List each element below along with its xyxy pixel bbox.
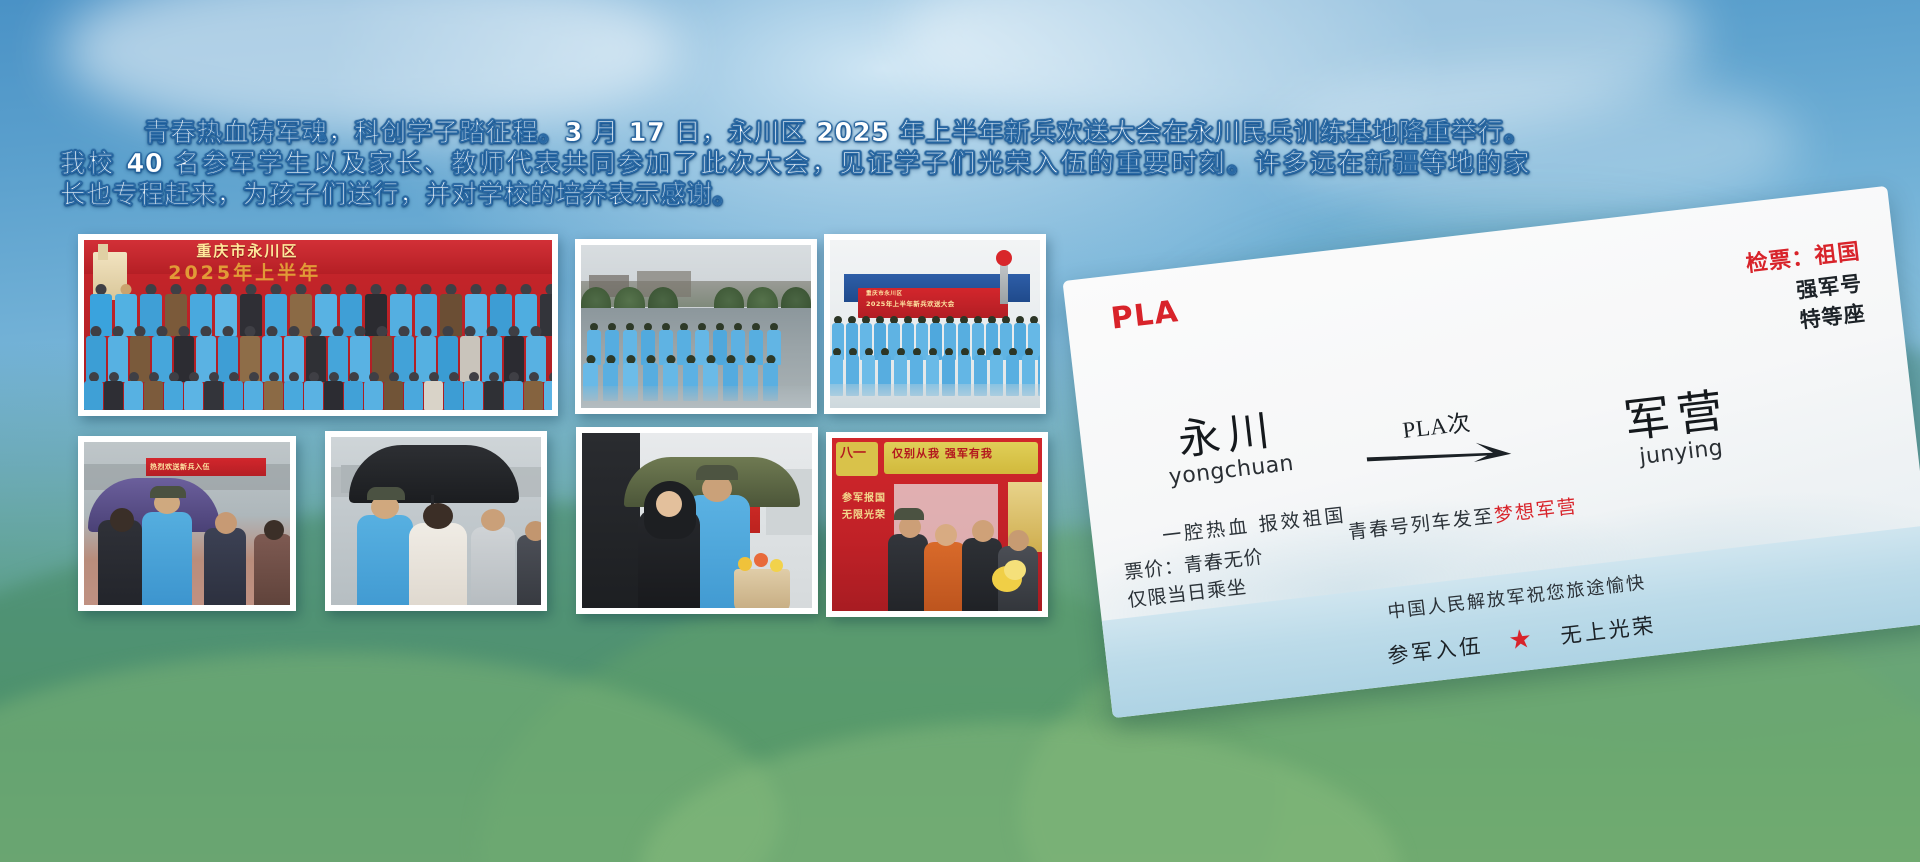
photo-image: 重庆市永川区 2025年上半年新兵欢送大会 bbox=[830, 240, 1040, 408]
photo-family-farewell-umbrella-black[interactable] bbox=[325, 431, 547, 611]
photo-image bbox=[581, 245, 811, 408]
seat-class-label: 特等座 bbox=[1798, 297, 1867, 334]
photo-recruits-formation-trees[interactable] bbox=[575, 239, 817, 414]
photo-image bbox=[331, 437, 541, 605]
ticket-surface: PLA 检票：祖国 强军号 特等座 永川 yongchuan PLA次 军营 j… bbox=[1062, 186, 1920, 718]
photo-recruits-formation-stage[interactable]: 重庆市永川区 2025年上半年新兵欢送大会 bbox=[824, 234, 1046, 414]
headline-paragraph: 青春热血铸军魂，科创学子踏征程。3 月 17 日，永川区 2025 年上半年新兵… bbox=[60, 118, 1530, 211]
photo-couple-farewell-umbrella[interactable] bbox=[576, 427, 818, 614]
photo-image: 仅别从我 强军有我 八一 参军报国无限光荣 bbox=[832, 438, 1042, 611]
pla-logo: PLA bbox=[1109, 294, 1180, 337]
train-ticket-card[interactable]: PLA 检票：祖国 强军号 特等座 永川 yongchuan PLA次 军营 j… bbox=[1062, 186, 1920, 718]
photo-image: 重庆市永川区 2025年上半年 bbox=[84, 240, 552, 410]
headline-line-1: 青春热血铸军魂，科创学子踏征程。3 月 17 日，永川区 2025 年上半年新兵… bbox=[60, 118, 1530, 149]
photo-image: 热烈欢送新兵入伍 bbox=[84, 442, 290, 605]
poster-canvas: 青春热血铸军魂，科创学子踏征程。3 月 17 日，永川区 2025 年上半年新兵… bbox=[0, 0, 1920, 862]
photo-group-photo-banner[interactable]: 重庆市永川区 2025年上半年 bbox=[78, 234, 558, 416]
photo-group-red-backdrop[interactable]: 仅别从我 强军有我 八一 参军报国无限光荣 bbox=[826, 432, 1048, 617]
photo-family-farewell-umbrella-purple[interactable]: 热烈欢送新兵入伍 bbox=[78, 436, 296, 611]
photo-image bbox=[582, 433, 812, 608]
star-icon: ★ bbox=[1507, 625, 1536, 654]
headline-line-3: 长也专程赶来，为孩子们送行，并对学校的培养表示感谢。 bbox=[60, 180, 1530, 211]
headline-line-2: 我校 40 名参军学生以及家长、教师代表共同参加了此次大会，见证学子们光荣入伍的… bbox=[60, 149, 1530, 180]
